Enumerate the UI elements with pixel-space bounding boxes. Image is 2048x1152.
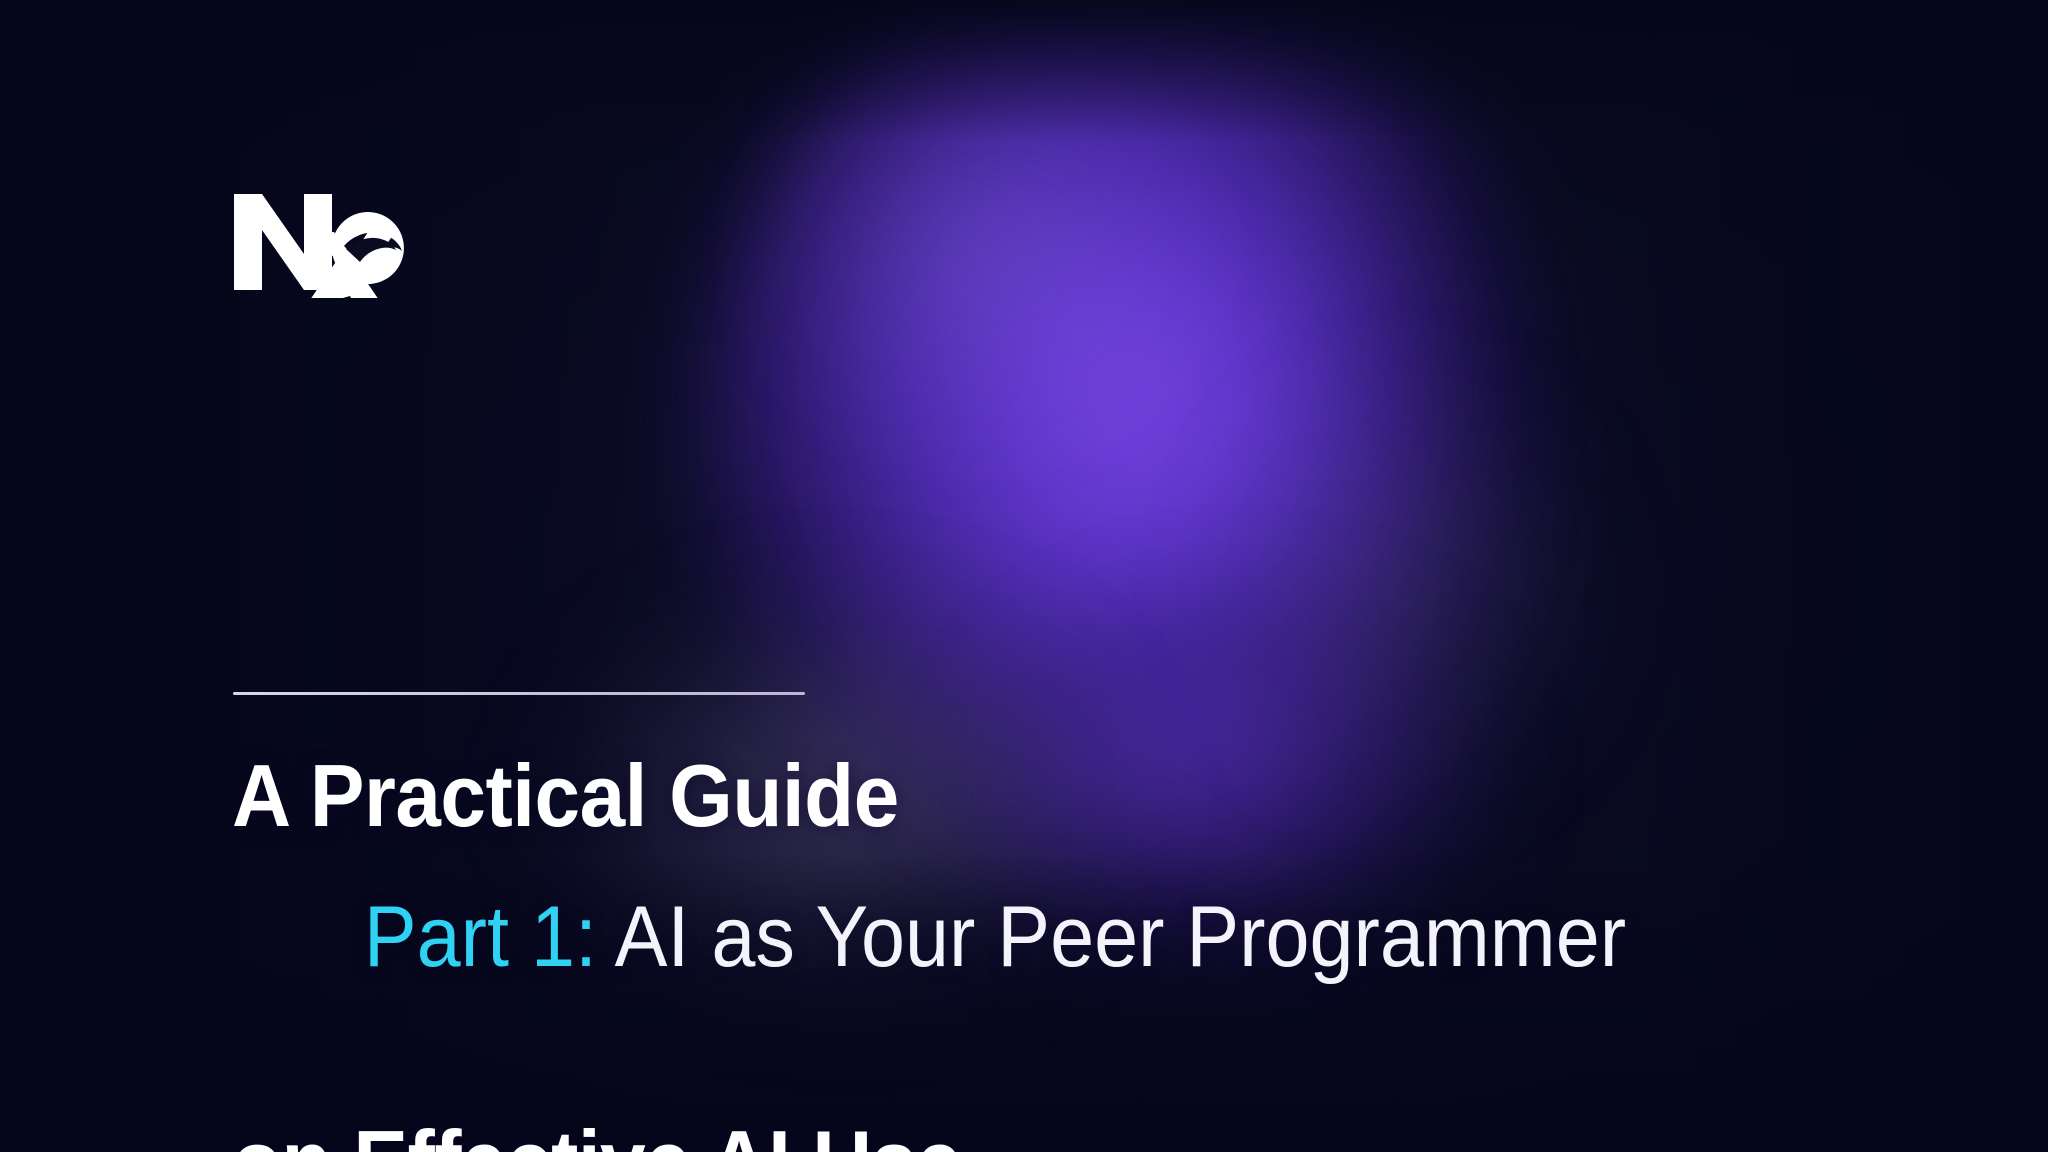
nx-logo-icon (232, 186, 410, 298)
title-divider (233, 692, 805, 695)
subtitle: Part 1: AI as Your Peer Programmer (232, 760, 1626, 1114)
subtitle-part-label: Part 1: (364, 889, 597, 985)
nx-logo (232, 186, 410, 298)
slide-canvas: A Practical Guide on Effective AI Use Pa… (0, 0, 2048, 1152)
subtitle-rest: AI as Your Peer Programmer (597, 889, 1626, 985)
slide-content: A Practical Guide on Effective AI Use Pa… (0, 0, 2048, 1152)
